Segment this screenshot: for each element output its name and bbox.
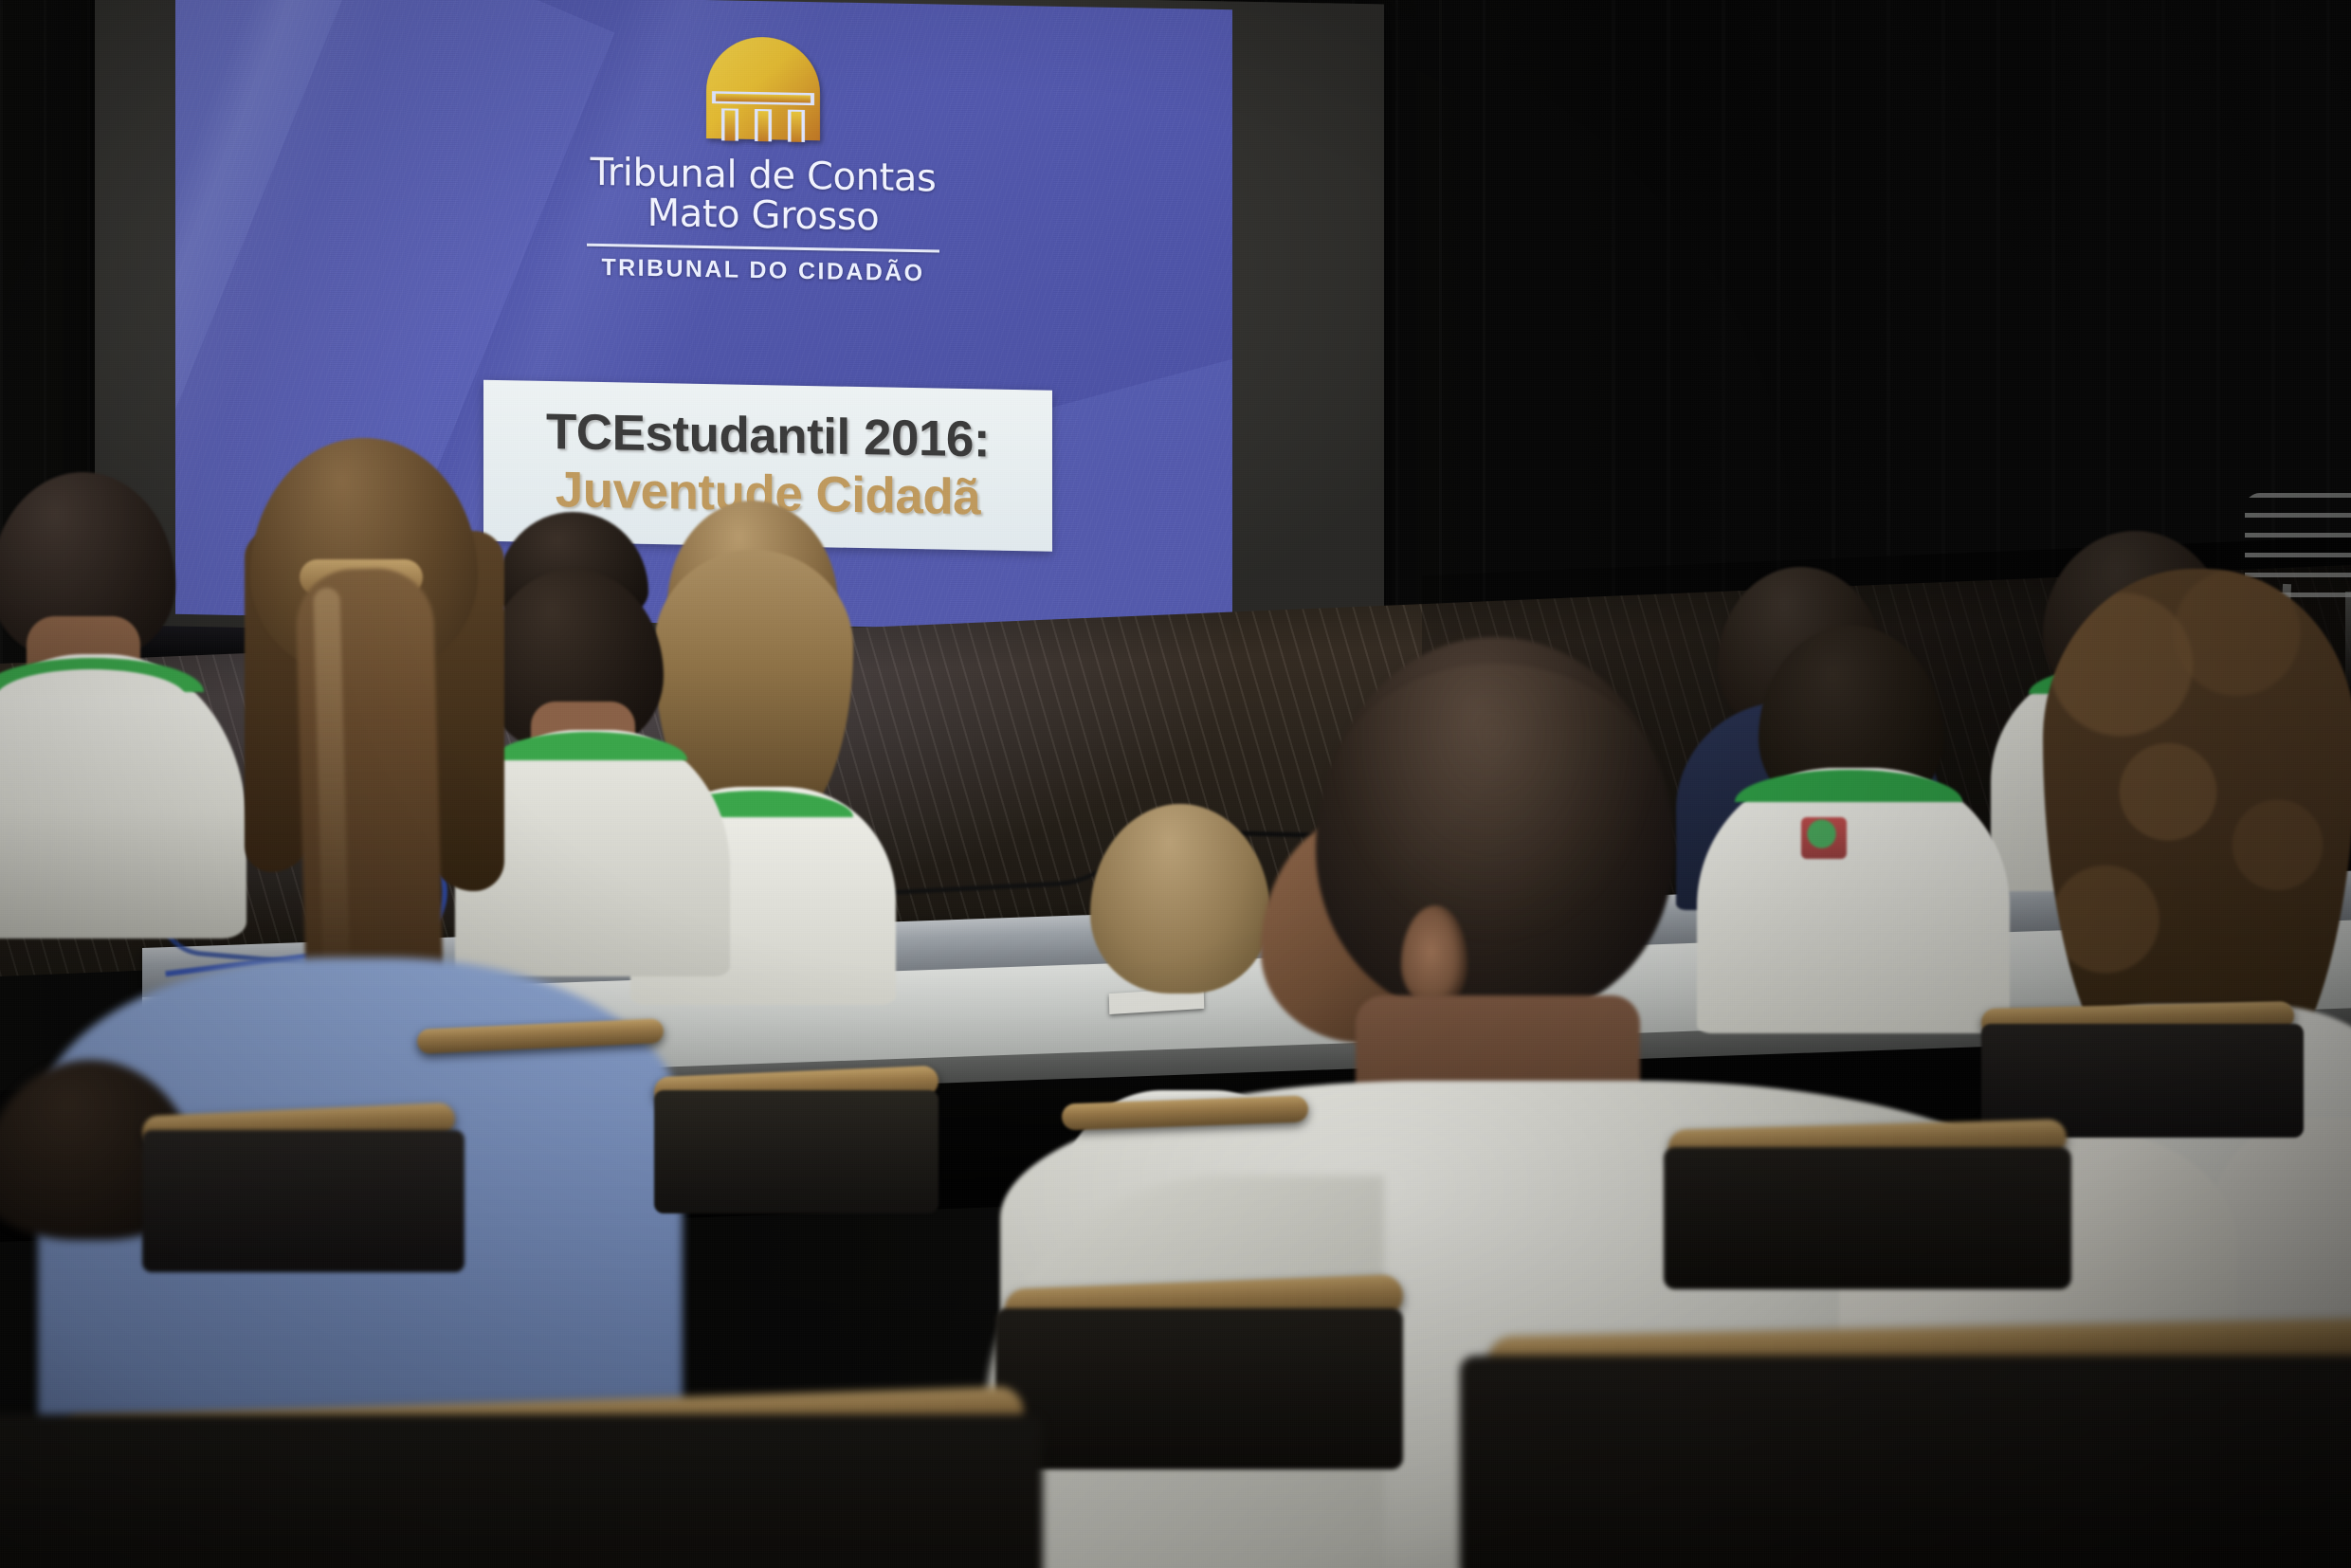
tribunal-dome-columns-icon bbox=[701, 36, 826, 152]
seat-mid-3 bbox=[654, 1090, 939, 1213]
seat-front-left bbox=[0, 1414, 1043, 1568]
auditorium-photo: Tribunal de Contas Mato Grosso TRIBUNAL … bbox=[0, 0, 2351, 1568]
student-right-logo-body bbox=[1697, 768, 2010, 1033]
uniform-crest-icon bbox=[1801, 817, 1847, 859]
seat-mid-6 bbox=[142, 1130, 465, 1272]
seat-front-right bbox=[1460, 1356, 2351, 1568]
slide-title-line1: TCEstudantil 2016: bbox=[546, 405, 990, 468]
foreground-man-hair-highlight bbox=[1325, 664, 1665, 948]
stacked-chairs-leg-back bbox=[2345, 592, 2351, 686]
seat-mid-1 bbox=[995, 1308, 1403, 1469]
logo-divider-rule bbox=[587, 244, 939, 253]
tribunal-logo-block: Tribunal de Contas Mato Grosso TRIBUNAL … bbox=[460, 31, 1066, 290]
seat-mid-2 bbox=[1664, 1147, 2071, 1289]
foreground-man-ear bbox=[1401, 905, 1467, 1008]
